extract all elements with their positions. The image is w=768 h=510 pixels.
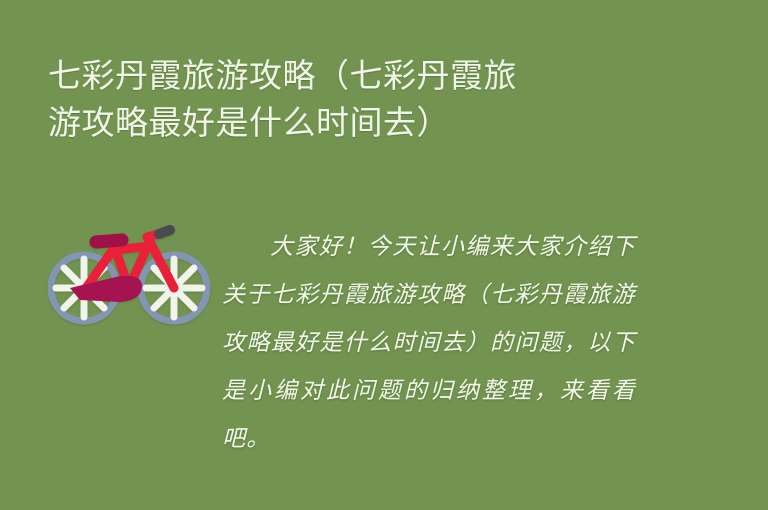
- bicycle-illustration: [46, 214, 212, 332]
- page-title-line-1: 七彩丹霞旅游攻略（七彩丹霞旅: [48, 52, 648, 99]
- handlebar-grip: [159, 230, 170, 234]
- poster-canvas: 七彩丹霞旅游攻略（七彩丹霞旅 游攻略最好是什么时间去）: [0, 0, 768, 510]
- intro-paragraph: 大家好！今天让小编来大家介绍下关于七彩丹霞旅游攻略（七彩丹霞旅游攻略最好是什么时…: [222, 223, 636, 463]
- content-row: 大家好！今天让小编来大家介绍下关于七彩丹霞旅游攻略（七彩丹霞旅游攻略最好是什么时…: [0, 196, 768, 456]
- page-title: 七彩丹霞旅游攻略（七彩丹霞旅 游攻略最好是什么时间去）: [48, 52, 648, 146]
- bicycle-saddle: [96, 240, 122, 242]
- page-title-line-2: 游攻略最好是什么时间去）: [48, 99, 648, 146]
- bicycle-icon: [46, 214, 212, 332]
